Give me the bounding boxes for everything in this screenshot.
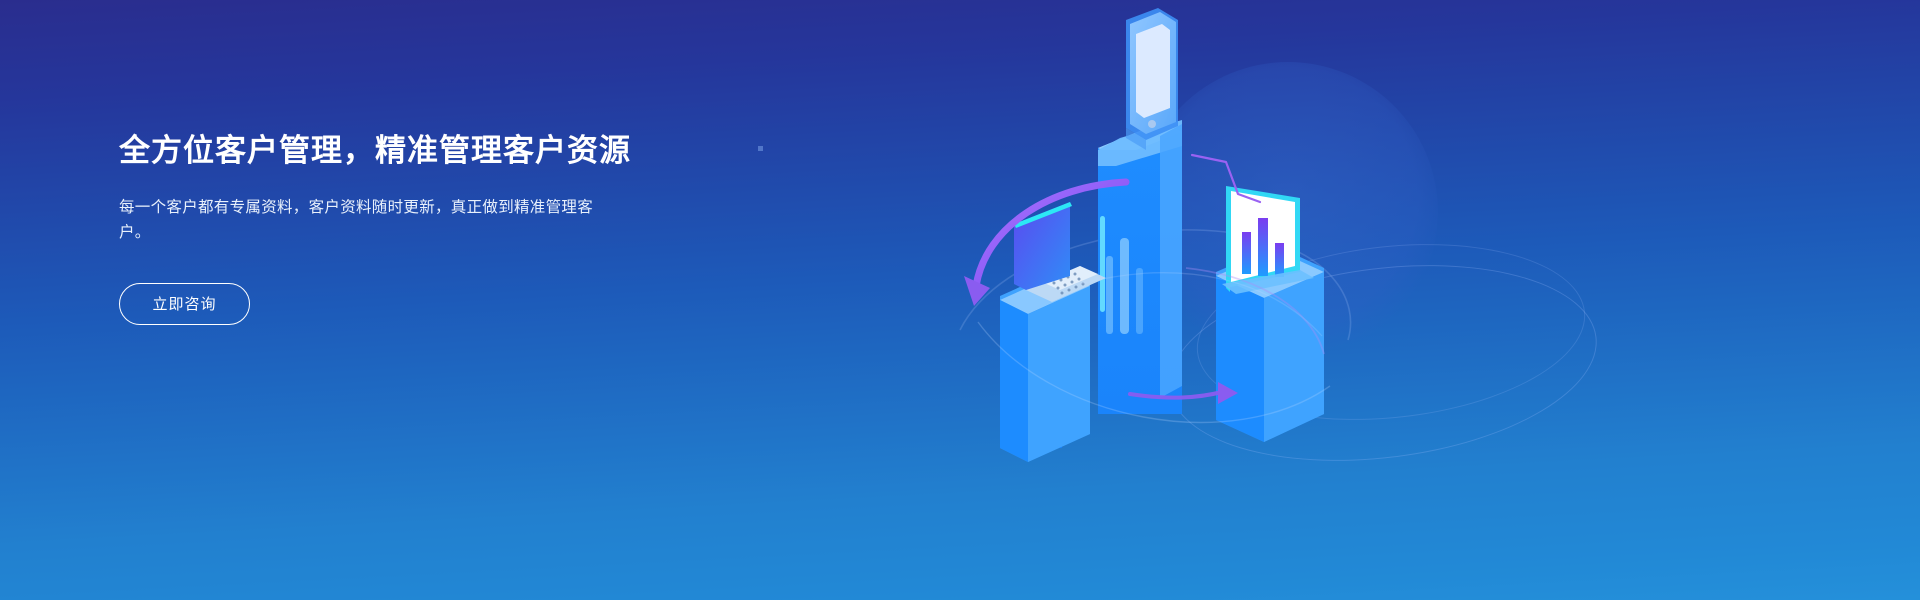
hero-copy-block: 全方位客户管理，精准管理客户资源 每一个客户都有专属资料，客户资料随时更新，真正…	[119, 132, 739, 325]
hero-banner: 全方位客户管理，精准管理客户资源 每一个客户都有专属资料，客户资料随时更新，真正…	[0, 0, 1920, 600]
tablet-device	[1126, 8, 1178, 150]
background-speck-decoration	[758, 146, 763, 151]
chart-bar-3	[1275, 243, 1284, 277]
consult-now-button[interactable]: 立即咨询	[119, 283, 250, 325]
inner-bar-1	[1106, 256, 1113, 334]
inner-bar-3	[1136, 268, 1143, 334]
chart-bar-1	[1242, 232, 1251, 274]
tall-center-pedestal	[1098, 120, 1182, 414]
hero-subtitle: 每一个客户都有专属资料，客户资料随时更新，真正做到精准管理客户。	[119, 195, 599, 245]
hero-headline: 全方位客户管理，精准管理客户资源	[119, 132, 739, 171]
laptop-device	[1014, 202, 1106, 302]
hero-illustration	[930, 0, 1450, 600]
edge-glow-bar	[1100, 216, 1105, 312]
inner-bar-2	[1120, 238, 1129, 334]
chart-bar-2	[1258, 218, 1268, 276]
